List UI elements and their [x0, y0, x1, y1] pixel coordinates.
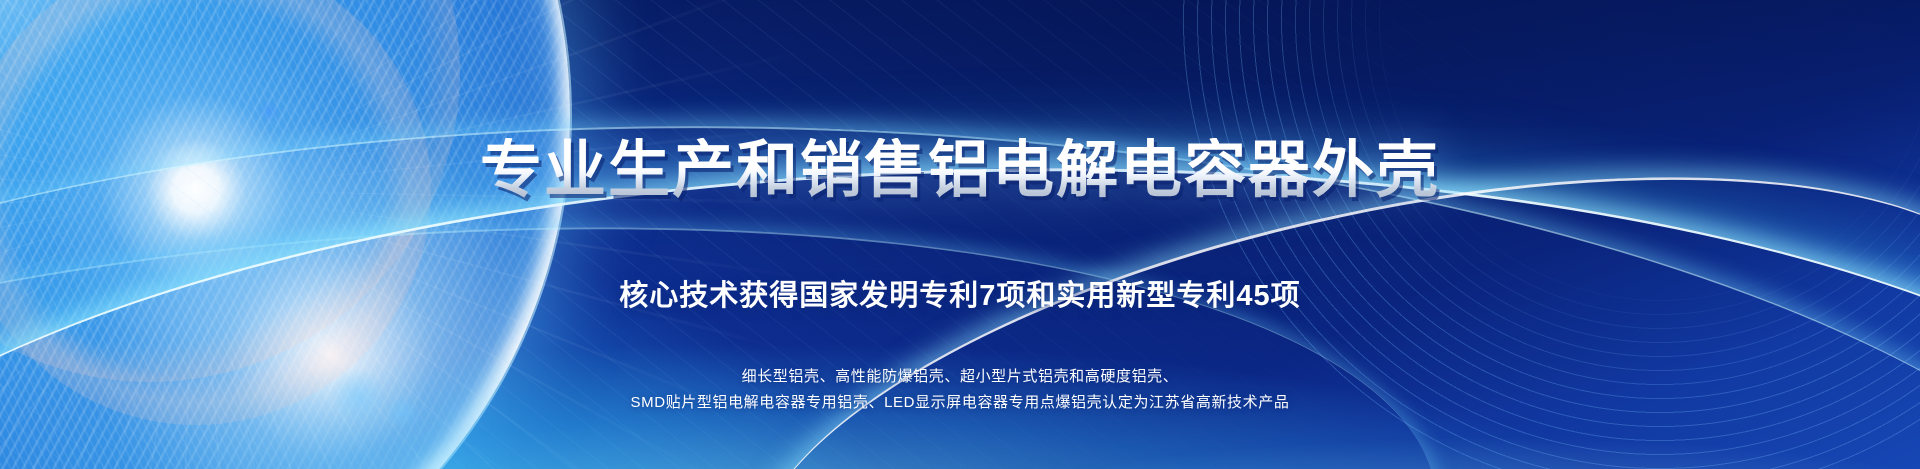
promo-banner: 专业生产和销售铝电解电容器外壳 核心技术获得国家发明专利7项和实用新型专利45项…: [0, 0, 1920, 469]
banner-content: 专业生产和销售铝电解电容器外壳 核心技术获得国家发明专利7项和实用新型专利45项…: [0, 0, 1920, 469]
banner-description-line-1: 细长型铝壳、高性能防爆铝壳、超小型片式铝壳和高硬度铝壳、: [631, 364, 1290, 390]
banner-description: 细长型铝壳、高性能防爆铝壳、超小型片式铝壳和高硬度铝壳、 SMD贴片型铝电解电容…: [631, 364, 1290, 416]
banner-description-line-2: SMD贴片型铝电解电容器专用铝壳、LED显示屏电容器专用点爆铝壳认定为江苏省高新…: [631, 390, 1290, 416]
banner-headline: 专业生产和销售铝电解电容器外壳: [480, 138, 1440, 203]
banner-subheadline: 核心技术获得国家发明专利7项和实用新型专利45项: [619, 272, 1300, 314]
